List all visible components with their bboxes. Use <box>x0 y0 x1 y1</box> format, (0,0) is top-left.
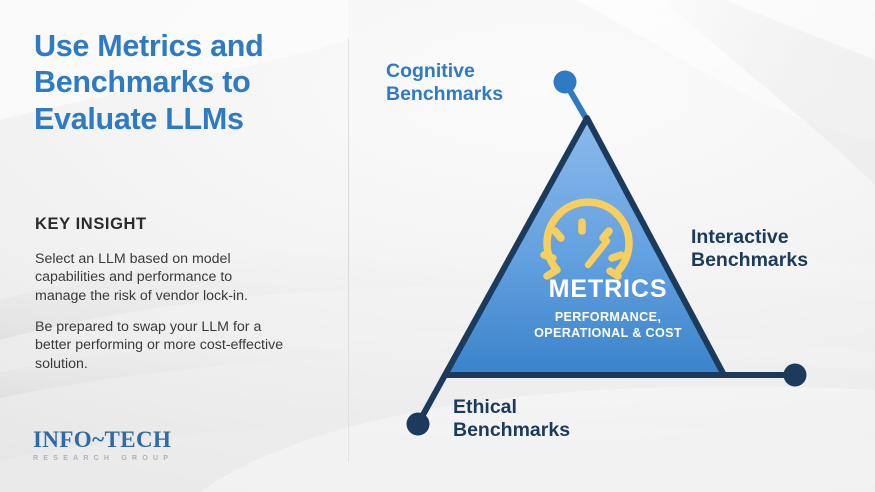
triangle-center-text: METRICS PERFORMANCE, OPERATIONAL & COST <box>488 277 728 341</box>
key-insight-body: Select an LLM based on model capabilitie… <box>35 250 287 373</box>
node-dot-cognitive[interactable] <box>554 71 577 94</box>
node-label-interactive: Interactive Benchmarks <box>691 226 808 272</box>
metrics-title: METRICS <box>488 277 728 302</box>
info-tech-logo: INFO~TECH RESEARCH GROUP <box>33 428 173 461</box>
page-title: Use Metrics and Benchmarks to Evaluate L… <box>34 28 334 137</box>
slide-root: Use Metrics and Benchmarks to Evaluate L… <box>0 0 875 492</box>
metrics-subtitle-line2: OPERATIONAL & COST <box>488 325 728 341</box>
metrics-subtitle: PERFORMANCE, OPERATIONAL & COST <box>488 309 728 341</box>
left-content-panel: Use Metrics and Benchmarks to Evaluate L… <box>0 0 348 492</box>
key-insight-heading: KEY INSIGHT <box>35 215 147 234</box>
node-label-ethical: Ethical Benchmarks <box>453 396 570 442</box>
node-label-cognitive: Cognitive Benchmarks <box>386 60 503 106</box>
node-label-ethical-line2: Benchmarks <box>453 419 570 442</box>
node-label-ethical-line1: Ethical <box>453 396 570 419</box>
logo-tagline: RESEARCH GROUP <box>33 454 173 461</box>
key-insight-paragraph-2: Be prepared to swap your LLM for a bette… <box>35 318 287 373</box>
node-label-interactive-line2: Benchmarks <box>691 249 808 272</box>
node-label-cognitive-line2: Benchmarks <box>386 83 503 106</box>
node-label-cognitive-line1: Cognitive <box>386 60 503 83</box>
key-insight-paragraph-1: Select an LLM based on model capabilitie… <box>35 250 287 305</box>
logo-wordmark: INFO~TECH <box>33 428 173 451</box>
diagram-panel: Cognitive Benchmarks Interactive Benchma… <box>348 0 875 492</box>
metrics-subtitle-line1: PERFORMANCE, <box>488 309 728 325</box>
node-dot-ethical[interactable] <box>407 413 430 436</box>
node-dot-interactive[interactable] <box>784 364 807 387</box>
node-label-interactive-line1: Interactive <box>691 226 808 249</box>
